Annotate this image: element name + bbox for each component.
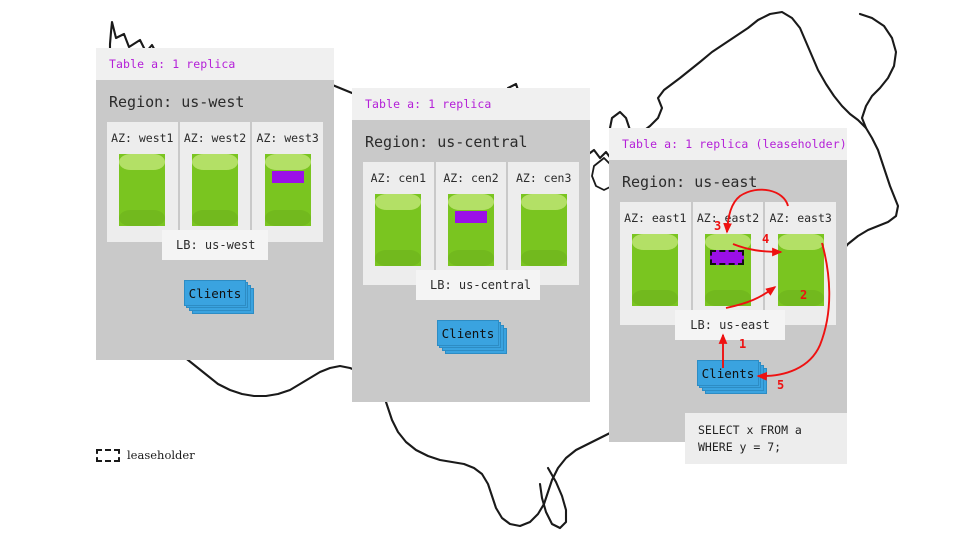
replica-cylinder-east1[interactable] <box>632 234 678 306</box>
az-box-cen2[interactable]: AZ: cen2 <box>436 162 507 285</box>
leaseholder-dashed-icon <box>96 449 120 462</box>
az-box-east2[interactable]: AZ: east2 <box>693 202 764 325</box>
region-panel-us-west: Table a: 1 replica Region: us-west AZ: w… <box>96 48 334 360</box>
cylinder-bottom-ellipse <box>705 290 751 306</box>
cylinder-top-ellipse <box>448 194 494 210</box>
region-title-us-east: Region: us-east <box>609 160 847 202</box>
load-balancer-us-central[interactable]: LB: us-central <box>416 270 540 300</box>
az-label-east1: AZ: east1 <box>620 211 691 225</box>
leaseholder-range-block-east2 <box>710 250 744 265</box>
cylinder-top-ellipse <box>632 234 678 250</box>
sql-query-box: SELECT x FROM a WHERE y = 7; <box>685 413 847 464</box>
az-row-us-east: AZ: east1 AZ: east2 <box>620 202 836 325</box>
load-balancer-us-west[interactable]: LB: us-west <box>162 230 268 260</box>
cylinder-bottom-ellipse <box>521 250 567 266</box>
clients-button-us-central[interactable]: Clients <box>437 320 499 346</box>
cylinder-top-ellipse <box>375 194 421 210</box>
load-balancer-us-east[interactable]: LB: us-east <box>675 310 785 340</box>
cylinder-bottom-ellipse <box>632 290 678 306</box>
cylinder-bottom-ellipse <box>375 250 421 266</box>
az-label-cen1: AZ: cen1 <box>363 171 434 185</box>
az-label-west2: AZ: west2 <box>180 131 251 145</box>
replica-cylinder-cen2[interactable] <box>448 194 494 266</box>
region-body-us-central: Region: us-central AZ: cen1 AZ: cen2 <box>352 120 590 402</box>
legend-label: leaseholder <box>127 448 195 462</box>
clients-button-us-east[interactable]: Clients <box>697 360 759 386</box>
clients-button-label: Clients <box>184 280 246 306</box>
clients-button-us-west[interactable]: Clients <box>184 280 246 306</box>
step-number-1: 1 <box>739 337 746 351</box>
az-row-us-central: AZ: cen1 AZ: cen2 <box>363 162 579 285</box>
cylinder-bottom-ellipse <box>448 250 494 266</box>
florida-peninsula-path <box>540 468 566 528</box>
az-box-west3[interactable]: AZ: west3 <box>252 122 323 242</box>
step-number-2: 2 <box>800 288 807 302</box>
az-box-west2[interactable]: AZ: west2 <box>180 122 251 242</box>
cylinder-bottom-ellipse <box>119 210 165 226</box>
az-label-east3: AZ: east3 <box>765 211 836 225</box>
cylinder-top-ellipse <box>778 234 824 250</box>
az-label-west3: AZ: west3 <box>252 131 323 145</box>
az-box-cen1[interactable]: AZ: cen1 <box>363 162 434 285</box>
cylinder-top-ellipse <box>192 154 238 170</box>
az-box-east3[interactable]: AZ: east3 <box>765 202 836 325</box>
step-number-4: 4 <box>762 232 769 246</box>
region-panel-us-east: Table a: 1 replica (leaseholder) Region:… <box>609 128 847 442</box>
region-title-us-west: Region: us-west <box>96 80 334 122</box>
cylinder-bottom-ellipse <box>192 210 238 226</box>
replica-cylinder-cen1[interactable] <box>375 194 421 266</box>
step-number-3: 3 <box>714 219 721 233</box>
region-title-us-central: Region: us-central <box>352 120 590 162</box>
replica-cylinder-cen3[interactable] <box>521 194 567 266</box>
clients-button-label: Clients <box>437 320 499 346</box>
az-row-us-west: AZ: west1 AZ: west2 <box>107 122 323 242</box>
az-label-west1: AZ: west1 <box>107 131 178 145</box>
replica-cylinder-east2[interactable] <box>705 234 751 306</box>
az-box-cen3[interactable]: AZ: cen3 <box>508 162 579 285</box>
clients-button-label: Clients <box>697 360 759 386</box>
replica-cylinder-west3[interactable] <box>265 154 311 226</box>
replica-cylinder-west2[interactable] <box>192 154 238 226</box>
diagram-canvas: Table a: 1 replica Region: us-west AZ: w… <box>0 0 960 540</box>
step-number-5: 5 <box>777 378 784 392</box>
legend: leaseholder <box>96 448 195 462</box>
region-header-us-west: Table a: 1 replica <box>96 48 334 80</box>
cylinder-bottom-ellipse <box>265 210 311 226</box>
region-body-us-east: Region: us-east AZ: east1 AZ: east2 <box>609 160 847 442</box>
region-body-us-west: Region: us-west AZ: west1 AZ: west2 <box>96 80 334 360</box>
cylinder-top-ellipse <box>265 154 311 170</box>
replica-cylinder-west1[interactable] <box>119 154 165 226</box>
replica-range-block-west3 <box>272 171 304 183</box>
northeast-coast-path <box>860 14 896 128</box>
cylinder-top-ellipse <box>521 194 567 210</box>
az-label-cen3: AZ: cen3 <box>508 171 579 185</box>
az-box-west1[interactable]: AZ: west1 <box>107 122 178 242</box>
region-header-us-east: Table a: 1 replica (leaseholder) <box>609 128 847 160</box>
az-label-east2: AZ: east2 <box>693 211 764 225</box>
region-panel-us-central: Table a: 1 replica Region: us-central AZ… <box>352 88 590 402</box>
az-box-east1[interactable]: AZ: east1 <box>620 202 691 325</box>
cylinder-top-ellipse <box>705 234 751 250</box>
replica-range-block-cen2 <box>455 211 487 223</box>
region-header-us-central: Table a: 1 replica <box>352 88 590 120</box>
cylinder-top-ellipse <box>119 154 165 170</box>
az-label-cen2: AZ: cen2 <box>436 171 507 185</box>
